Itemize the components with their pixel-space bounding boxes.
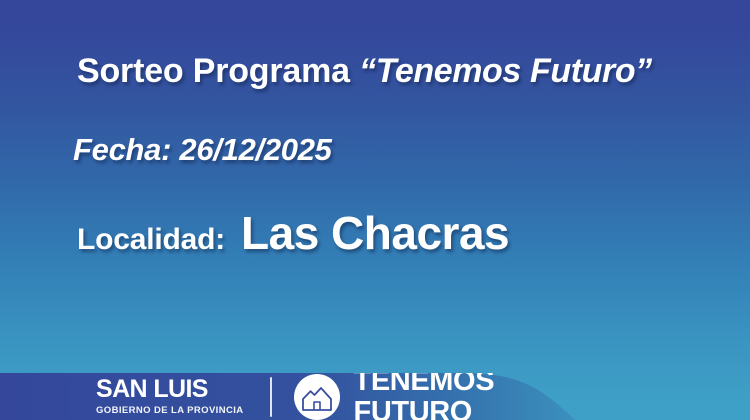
locality-label: Localidad: [77,225,225,255]
program-name-line2: FUTURO [354,398,495,420]
locality-line: Localidad: Las Chacras [77,210,509,256]
title-main-text: Sorteo Programa [77,52,359,90]
program-name-line1: TENEMOS [354,373,495,396]
house-icon-glyph [300,382,334,412]
footer-content: SAN LUIS GOBIERNO DE LA PROVINCIA TENEMO… [0,373,750,420]
date-line: Fecha: 26/12/2025 [73,134,332,165]
brand-divider [270,377,272,417]
brand-tenemos-futuro: TENEMOS FUTURO [354,373,495,420]
house-icon [294,374,340,420]
footer-bar: SAN LUIS GOBIERNO DE LA PROVINCIA TENEMO… [0,373,750,420]
title-quoted-text: “Tenemos Futuro” [359,52,652,90]
brand-name: SAN LUIS [96,377,244,402]
brand-san-luis: SAN LUIS GOBIERNO DE LA PROVINCIA [96,377,244,416]
locality-value: Las Chacras [241,210,509,256]
slide-canvas: Sorteo Programa “Tenemos Futuro” Fecha: … [0,0,750,420]
page-title: Sorteo Programa “Tenemos Futuro” [77,54,652,88]
brand-subtitle: GOBIERNO DE LA PROVINCIA [96,406,244,416]
